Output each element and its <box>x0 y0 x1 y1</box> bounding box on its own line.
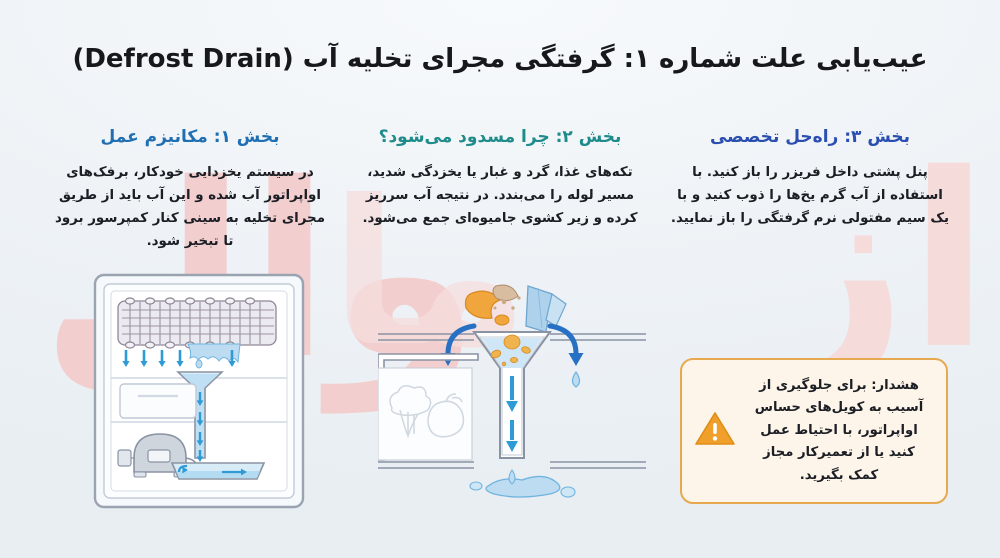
page-title: عیب‌یابی علت شماره ۱: گرفتگی مجرای تخلیه… <box>0 44 1000 74</box>
clogged-drain-diagram <box>378 280 646 508</box>
evaporator-coil <box>118 298 276 348</box>
section-2-heading: بخش ۲: چرا مسدود می‌شود؟ <box>358 126 642 148</box>
warning-triangle-svg <box>694 410 736 448</box>
ice-crystal <box>526 286 566 332</box>
food-debris <box>466 285 521 325</box>
water-puddle <box>470 470 575 497</box>
section-3-heading: بخش ۳: راه‌حل تخصصی <box>668 126 952 148</box>
section-1-heading: بخش ۱: مکانیزم عمل <box>48 126 332 148</box>
refrigerator-cutaway-diagram <box>92 272 306 510</box>
water-droplet <box>196 360 202 368</box>
warning-callout: هشدار: برای جلوگیری از آسیب به کویل‌های … <box>680 358 948 504</box>
sections-row: بخش ۱: مکانیزم عمل در سیستم یخزدایی خودک… <box>40 126 960 253</box>
water-droplet-right <box>573 372 580 387</box>
section-3-column: بخش ۳: راه‌حل تخصصی پنل پشتی داخل فریزر … <box>660 126 960 253</box>
crisper-drawer-with-vegetables <box>378 354 478 460</box>
section-2-body: تکه‌های غذا، گرد و غبار یا یخزدگی شدید، … <box>358 161 642 230</box>
section-3-body: پنل پشتی داخل فریزر را باز کنید. با استف… <box>668 161 952 230</box>
refrigerator-cutaway-svg <box>92 272 306 510</box>
section-1-column: بخش ۱: مکانیزم عمل در سیستم یخزدایی خودک… <box>40 126 340 253</box>
warning-triangle-icon <box>694 410 736 452</box>
section-1-body: در سیستم یخزدایی خودکار، برفک‌های اواپرا… <box>48 161 332 253</box>
clogged-drain-svg <box>378 280 646 508</box>
crisper-drawer <box>120 384 196 418</box>
section-2-column: بخش ۲: چرا مسدود می‌شود؟ تکه‌های غذا، گر… <box>350 126 650 253</box>
warning-text: هشدار: برای جلوگیری از آسیب به کویل‌های … <box>746 375 932 487</box>
infographic-page: وال ما از عیب‌یابی علت شماره ۱: گرفتگی م… <box>0 0 1000 558</box>
evaporation-pan <box>172 463 264 479</box>
